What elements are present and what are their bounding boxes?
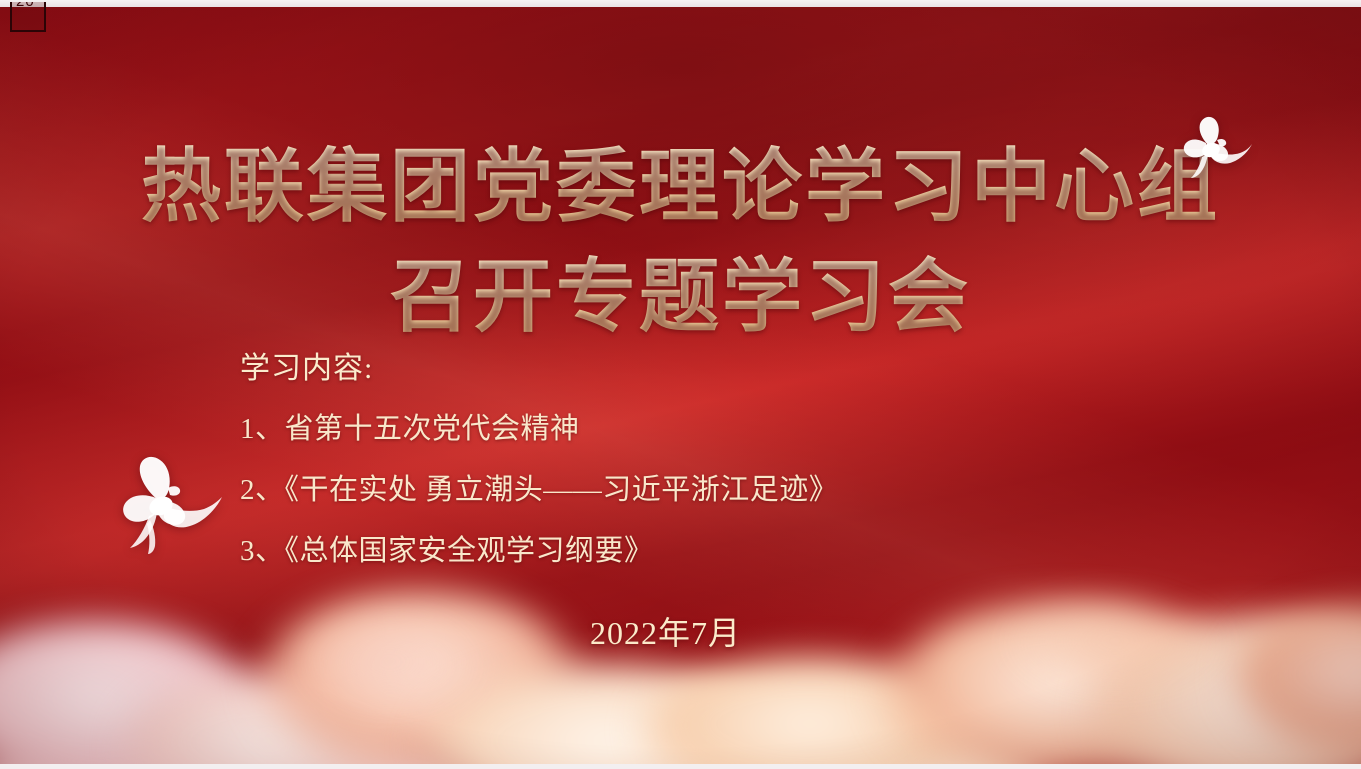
capture-top-edge (0, 0, 1361, 7)
cloud-shape (120, 674, 420, 766)
cloud-shape (880, 603, 1240, 766)
slide-background: 热联集团党委理论学习中心组 召开专题学习会 学习内容: 1、省第十五次党代会精神… (0, 6, 1361, 766)
cloud-shape (0, 621, 260, 766)
capture-bottom-edge (0, 764, 1361, 769)
dove-icon (1168, 110, 1254, 188)
cloud-shape (640, 656, 980, 766)
cloud-shape (1000, 596, 1230, 696)
study-content-block: 学习内容: 1、省第十五次党代会精神 2、《干在实处 勇立潮头——习近平浙江足迹… (240, 351, 838, 569)
slide-date: 2022年7月 (590, 613, 741, 653)
cloud-shape (420, 664, 800, 766)
dove-icon (112, 454, 224, 554)
page-number-label: 20 (16, 2, 35, 10)
slide-title: 热联集团党委理论学习中心组 召开专题学习会 (0, 134, 1361, 348)
cloud-shape (255, 591, 585, 766)
presentation-slide: 热联集团党委理论学习中心组 召开专题学习会 学习内容: 1、省第十五次党代会精神… (0, 0, 1361, 769)
list-item: 3、《总体国家安全观学习纲要》 (240, 533, 838, 569)
study-content-list: 1、省第十五次党代会精神 2、《干在实处 勇立潮头——习近平浙江足迹》 3、《总… (240, 411, 838, 569)
cloud-shape (0, 711, 480, 766)
list-item: 1、省第十五次党代会精神 (240, 411, 838, 447)
cloud-shape (300, 621, 480, 711)
list-item: 2、《干在实处 勇立潮头——习近平浙江足迹》 (240, 472, 838, 508)
cloud-shape (530, 696, 1050, 766)
title-line-1: 热联集团党委理论学习中心组 (0, 134, 1361, 238)
title-line-2: 召开专题学习会 (0, 244, 1361, 348)
page-number-artifact: 20 (10, 2, 46, 32)
cloud-shape (1090, 616, 1361, 766)
cloud-shape (1230, 606, 1361, 756)
study-content-heading: 学习内容: (240, 351, 838, 387)
